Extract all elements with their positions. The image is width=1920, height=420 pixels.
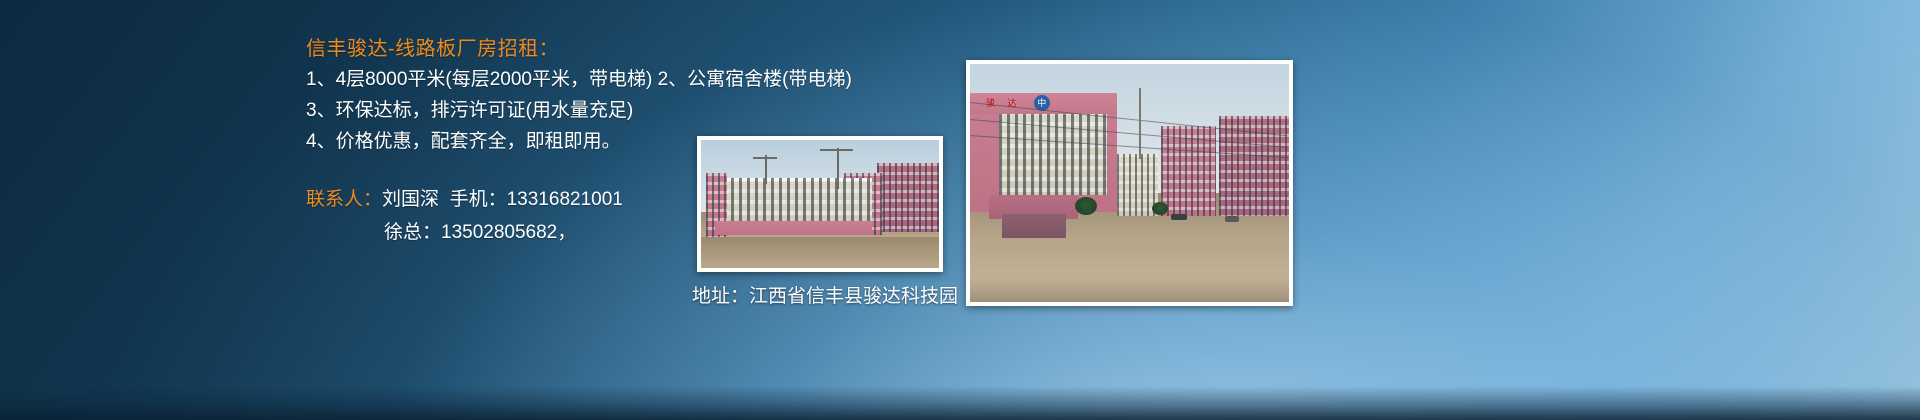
factory-building-photo xyxy=(697,136,943,272)
promo-banner: 信丰骏达-线路板厂房招租： 1、4层8000平米(每层2000平米，带电梯) 2… xyxy=(0,0,1920,420)
phone-number: 13316821001 xyxy=(507,189,623,210)
crane-arm xyxy=(753,157,777,159)
background-building xyxy=(877,163,939,232)
crane-arm xyxy=(820,149,853,151)
company-entrance-photo: 骏 达 中 xyxy=(966,60,1293,306)
crane-mast xyxy=(765,155,767,183)
address-caption: 地址：江西省信丰县骏达科技园 xyxy=(692,283,958,311)
utility-pole xyxy=(1139,88,1141,159)
crane-mast xyxy=(837,148,839,189)
company-entrance-photo-image: 骏 达 中 xyxy=(970,64,1289,302)
tree xyxy=(1152,202,1168,215)
ground-floor-band xyxy=(715,221,872,235)
contact-name: 刘国深 xyxy=(382,189,439,210)
list-item: 1、4层8000平米(每层2000平米，带电梯) 2、公寓宿舍楼(带电梯) xyxy=(306,64,946,95)
phone-label: 手机： xyxy=(450,189,507,210)
foreground-ground xyxy=(701,237,939,268)
page-title: 信丰骏达-线路板厂房招租： xyxy=(306,34,946,64)
factory-building-photo-image xyxy=(701,140,939,268)
yard-shadow xyxy=(970,278,1289,302)
window-grid xyxy=(877,163,939,232)
parked-vehicle xyxy=(1171,214,1187,220)
list-item: 3、环保达标，排污许可证(用水量充足) xyxy=(306,95,946,126)
contact-label: 联系人： xyxy=(306,189,382,210)
contact-gap xyxy=(439,189,450,210)
